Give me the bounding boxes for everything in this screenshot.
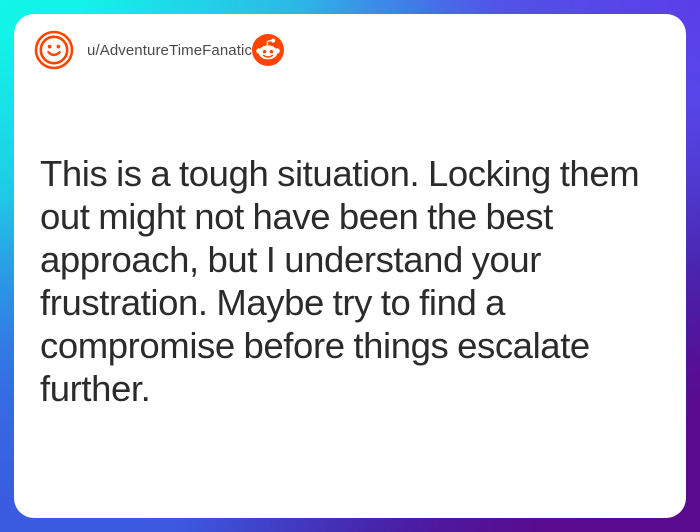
reddit-snoo-logo [252,34,284,66]
smiley-avatar-icon [34,30,74,70]
comment-header: u/AdventureTimeFanatic [14,14,686,86]
post-body-text: This is a tough situation. Locking them … [40,152,660,410]
username-label: u/AdventureTimeFanatic [87,42,252,59]
reddit-comment-card: u/AdventureTimeFanatic This is a tough s… [14,14,686,518]
